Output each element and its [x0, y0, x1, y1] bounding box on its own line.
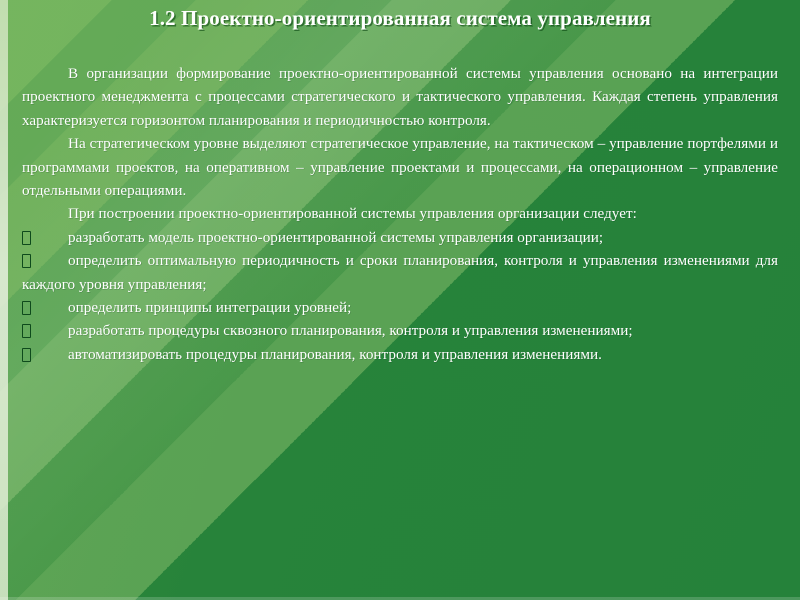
slide-title: 1.2 Проектно-ориентированная система упр… [0, 6, 800, 31]
list-item: автоматизировать процедуры планирования,… [22, 343, 778, 366]
slide-body: В организации формирование проектно-орие… [22, 62, 778, 366]
paragraph: На стратегическом уровне выделяют страте… [22, 132, 778, 202]
slide-content: 1.2 Проектно-ориентированная система упр… [0, 0, 800, 600]
list-item-label: разработать процедуры сквозного планиров… [22, 319, 778, 342]
list-item: разработать процедуры сквозного планиров… [22, 319, 778, 342]
list-item-label: определить принципы интеграции уровней; [22, 296, 778, 319]
list-item-label: разработать модель проектно-ориентирован… [22, 226, 778, 249]
list-item-label: автоматизировать процедуры планирования,… [22, 343, 778, 366]
missing-glyph-box-icon [22, 348, 31, 362]
missing-glyph-box-icon [22, 231, 31, 245]
missing-glyph-box-icon [22, 324, 31, 338]
paragraph: В организации формирование проектно-орие… [22, 62, 778, 132]
paragraph: При построении проектно-ориентированной … [22, 202, 778, 225]
bullet-list: разработать модель проектно-ориентирован… [22, 226, 778, 366]
list-item-label: определить оптимальную периодичность и с… [22, 249, 778, 296]
missing-glyph-box-icon [22, 301, 31, 315]
list-item: определить оптимальную периодичность и с… [22, 249, 778, 296]
slide: 1.2 Проектно-ориентированная система упр… [0, 0, 800, 600]
missing-glyph-box-icon [22, 254, 31, 268]
list-item: определить принципы интеграции уровней; [22, 296, 778, 319]
list-item: разработать модель проектно-ориентирован… [22, 226, 778, 249]
